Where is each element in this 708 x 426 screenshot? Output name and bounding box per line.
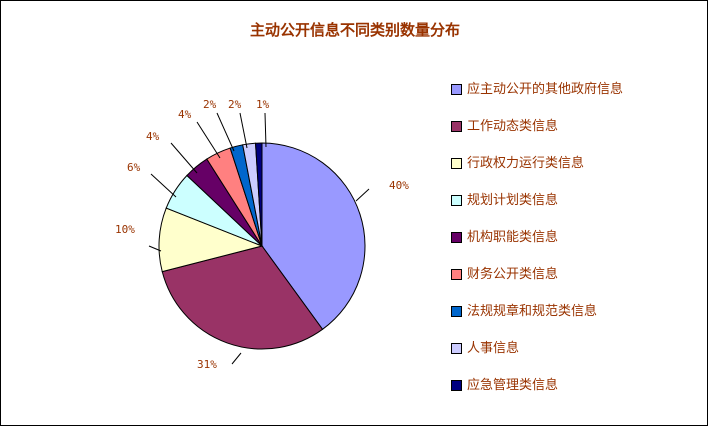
- chart-page: 主动公开信息不同类别数量分布 40%31%10%6%4%4%2%2%1% 应主动…: [0, 0, 708, 426]
- pie-leader-line: [217, 113, 234, 151]
- legend-item-label: 工作动态类信息: [467, 120, 558, 133]
- legend-color-swatch: [451, 158, 462, 169]
- pie-value-label: 31%: [197, 358, 217, 371]
- pie-value-label: 2%: [203, 98, 217, 111]
- pie-value-label: 6%: [127, 161, 141, 174]
- legend-color-swatch: [451, 121, 462, 132]
- legend-item[interactable]: 规划计划类信息: [451, 182, 701, 219]
- legend-item[interactable]: 人事信息: [451, 330, 701, 367]
- legend-color-swatch: [451, 380, 462, 391]
- legend-item-label: 行政权力运行类信息: [467, 157, 584, 170]
- legend-item[interactable]: 机构职能类信息: [451, 219, 701, 256]
- legend-color-swatch: [451, 269, 462, 280]
- pie-value-label: 4%: [178, 108, 192, 121]
- chart-legend: 应主动公开的其他政府信息工作动态类信息行政权力运行类信息规划计划类信息机构职能类…: [451, 71, 701, 404]
- pie-leader-line: [171, 143, 197, 173]
- pie-slices-group: [159, 143, 365, 349]
- legend-color-swatch: [451, 232, 462, 243]
- pie-leader-line: [151, 174, 176, 197]
- pie-leader-line: [265, 113, 266, 147]
- legend-item[interactable]: 行政权力运行类信息: [451, 145, 701, 182]
- legend-color-swatch: [451, 84, 462, 95]
- legend-item-label: 规划计划类信息: [467, 194, 558, 207]
- legend-item-label: 机构职能类信息: [467, 231, 558, 244]
- pie-value-label: 1%: [256, 98, 270, 111]
- pie-leader-line: [232, 353, 241, 364]
- legend-item[interactable]: 应主动公开的其他政府信息: [451, 71, 701, 108]
- legend-color-swatch: [451, 195, 462, 206]
- legend-item[interactable]: 财务公开类信息: [451, 256, 701, 293]
- legend-color-swatch: [451, 306, 462, 317]
- legend-item-label: 财务公开类信息: [467, 268, 558, 281]
- pie-value-label: 4%: [146, 130, 160, 143]
- pie-value-label: 40%: [389, 179, 409, 192]
- legend-item-label: 应主动公开的其他政府信息: [467, 83, 623, 96]
- pie-leader-line: [240, 113, 247, 148]
- pie-leader-line: [356, 189, 369, 201]
- pie-value-label: 10%: [115, 223, 135, 236]
- legend-color-swatch: [451, 343, 462, 354]
- legend-item[interactable]: 法规规章和规范类信息: [451, 293, 701, 330]
- pie-value-label: 2%: [228, 98, 242, 111]
- legend-item-label: 法规规章和规范类信息: [467, 305, 597, 318]
- legend-item-label: 应急管理类信息: [467, 379, 558, 392]
- pie-leader-line: [197, 122, 220, 158]
- legend-item[interactable]: 应急管理类信息: [451, 367, 701, 404]
- legend-item[interactable]: 工作动态类信息: [451, 108, 701, 145]
- legend-item-label: 人事信息: [467, 342, 519, 355]
